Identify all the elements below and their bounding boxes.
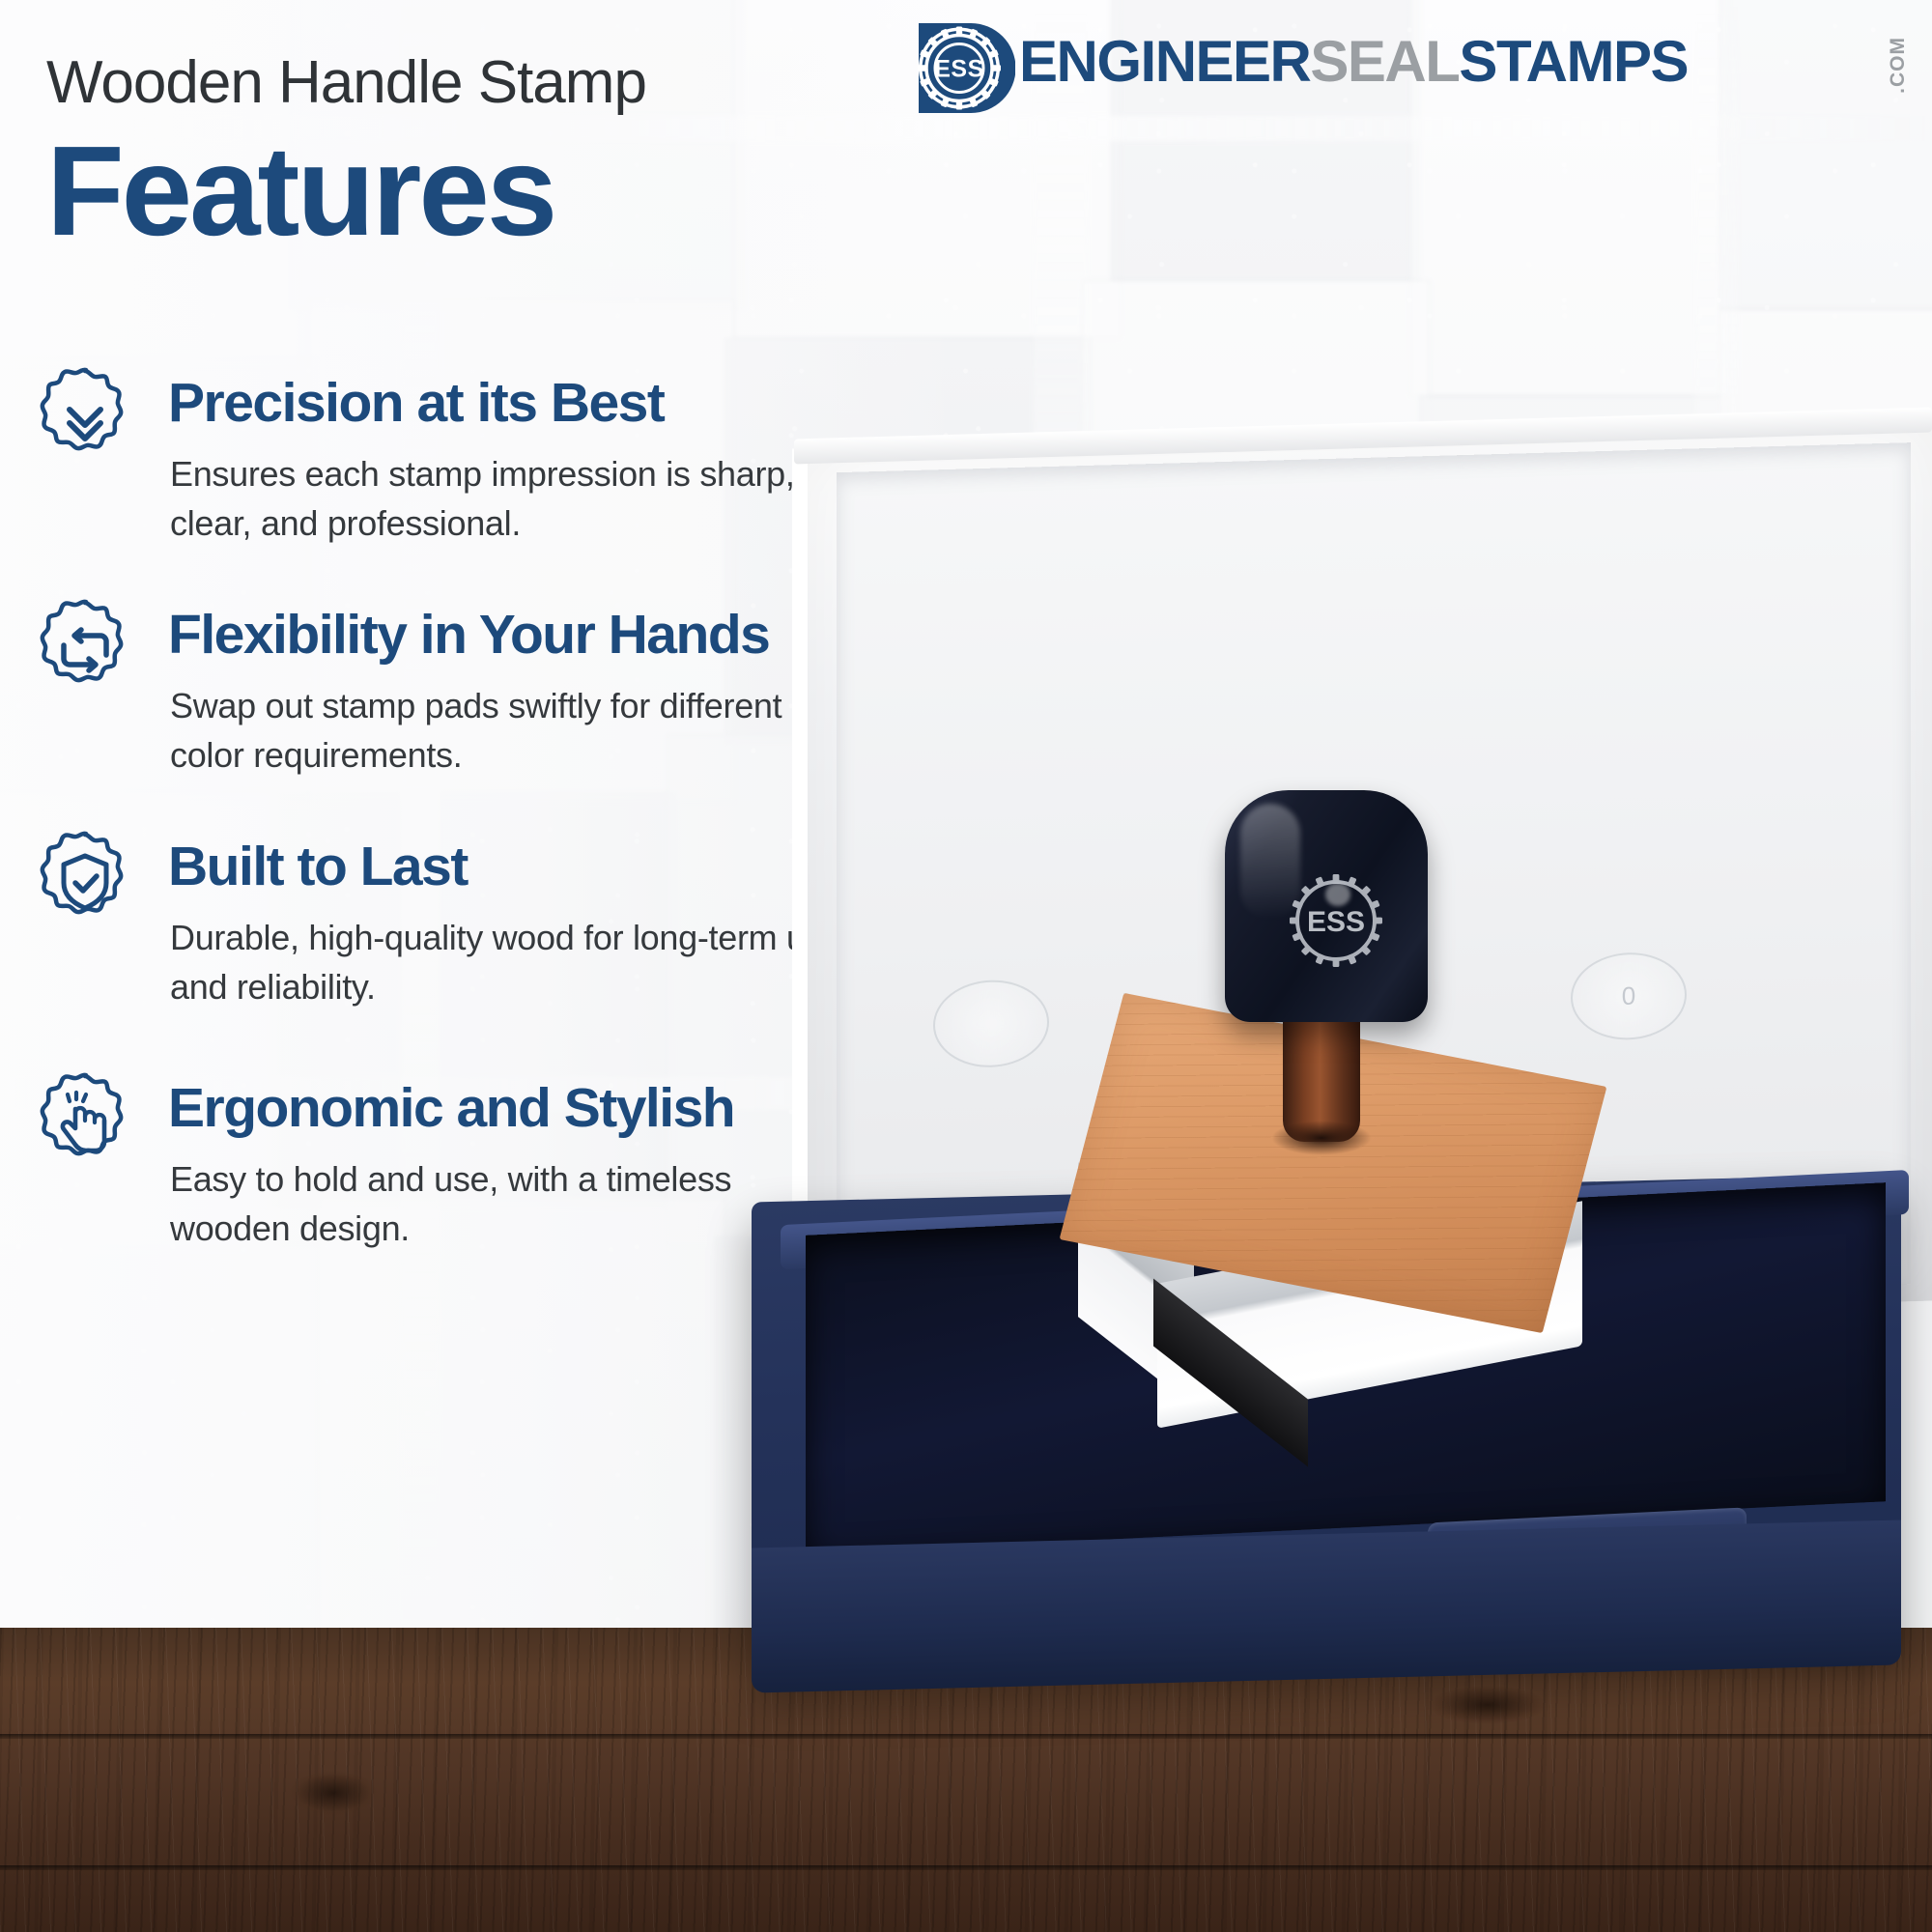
wooden-handle-stamp: ESS xyxy=(1053,802,1652,1420)
ess-gear-seal-icon: ESS xyxy=(911,17,1015,119)
brand-wordmark: ENGINEER SEAL STAMPS xyxy=(1019,33,1688,100)
handle-emblem-text: ESS xyxy=(1307,906,1365,938)
product-photo: 0 xyxy=(734,415,1932,1932)
brand-word-stamps: STAMPS xyxy=(1459,33,1688,91)
brand-logo[interactable]: ESS ENGINEER SEAL STAMPS .COM xyxy=(911,15,1906,122)
box-front-face xyxy=(752,1520,1901,1692)
feature-title: Precision at its Best xyxy=(168,375,664,433)
feature-title: Built to Last xyxy=(168,838,468,896)
feature-title: Ergonomic and Stylish xyxy=(168,1080,734,1138)
stamp-handle-knob: ESS xyxy=(1225,790,1428,1022)
badge-hand-tap-icon xyxy=(35,1072,135,1173)
brand-tld-suffix: .COM xyxy=(1887,37,1910,94)
feature-title: Flexibility in Your Hands xyxy=(168,607,769,665)
badge-swap-arrows-icon xyxy=(35,599,135,699)
infographic-canvas: Wooden Handle Stamp Features xyxy=(0,0,1932,1932)
brand-word-seal: SEAL xyxy=(1310,33,1459,91)
brand-word-engineer: ENGINEER xyxy=(1019,33,1310,91)
badge-shield-check-icon xyxy=(35,831,135,931)
handle-ess-gear-emblem-icon: ESS xyxy=(1279,864,1393,978)
svg-text:ESS: ESS xyxy=(934,56,984,83)
badge-chevron-double-down-icon xyxy=(35,367,135,468)
